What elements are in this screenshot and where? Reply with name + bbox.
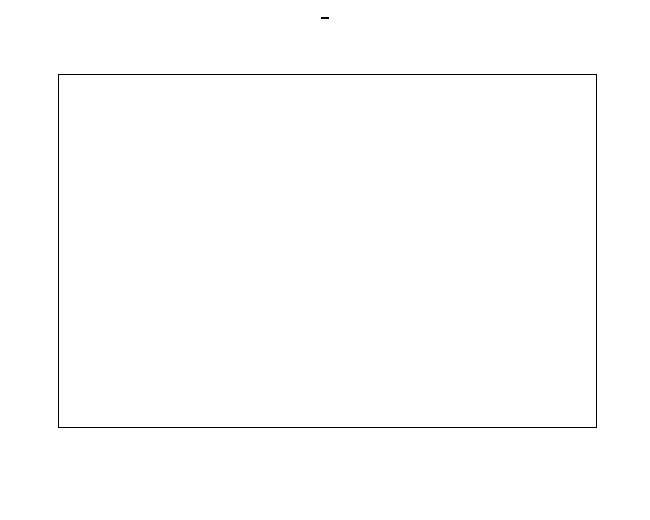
plot-area bbox=[58, 74, 597, 428]
plot-canvas bbox=[59, 75, 596, 427]
x-axis-gap bbox=[321, 486, 342, 503]
ssc-plot-page: { "header": { "title": "IKI - Satellite … bbox=[0, 0, 650, 500]
title-container bbox=[0, 4, 650, 23]
page-title bbox=[321, 16, 329, 19]
x-axis-title bbox=[58, 452, 597, 520]
